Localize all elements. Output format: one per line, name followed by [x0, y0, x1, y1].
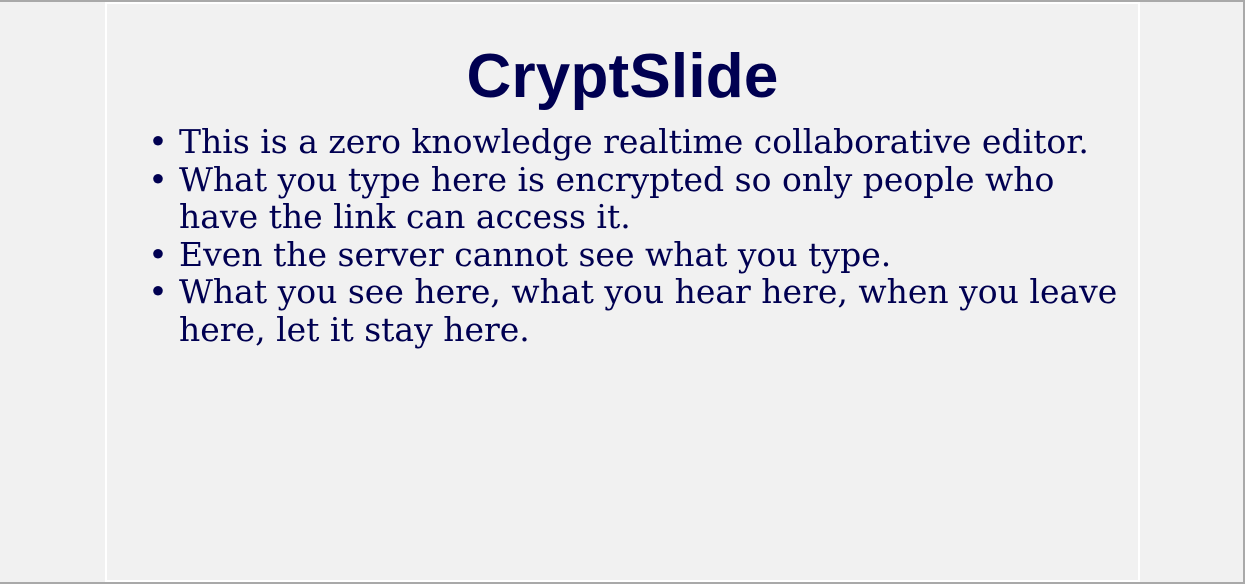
list-item[interactable]: • What you see here, what you hear here,…	[107, 273, 1138, 348]
list-item-text: This is a zero knowledge realtime collab…	[179, 123, 1118, 161]
slide-viewport: CryptSlide • This is a zero knowledge re…	[0, 0, 1245, 584]
page-title: CryptSlide	[107, 4, 1138, 108]
bullet-point-icon: •	[148, 236, 168, 274]
bullet-point-icon: •	[148, 161, 168, 199]
bullet-point-icon: •	[148, 273, 168, 311]
list-item[interactable]: • What you type here is encrypted so onl…	[107, 161, 1138, 236]
list-item-text: Even the server cannot see what you type…	[179, 236, 1118, 274]
list-item-text: What you see here, what you hear here, w…	[179, 273, 1118, 348]
slide-bullet-list: • This is a zero knowledge realtime coll…	[107, 108, 1138, 349]
list-item[interactable]: • Even the server cannot see what you ty…	[107, 236, 1138, 274]
list-item[interactable]: • This is a zero knowledge realtime coll…	[107, 123, 1138, 161]
list-item-text: What you type here is encrypted so only …	[179, 161, 1118, 236]
slide-page[interactable]: CryptSlide • This is a zero knowledge re…	[105, 2, 1140, 582]
bullet-point-icon: •	[148, 123, 168, 161]
